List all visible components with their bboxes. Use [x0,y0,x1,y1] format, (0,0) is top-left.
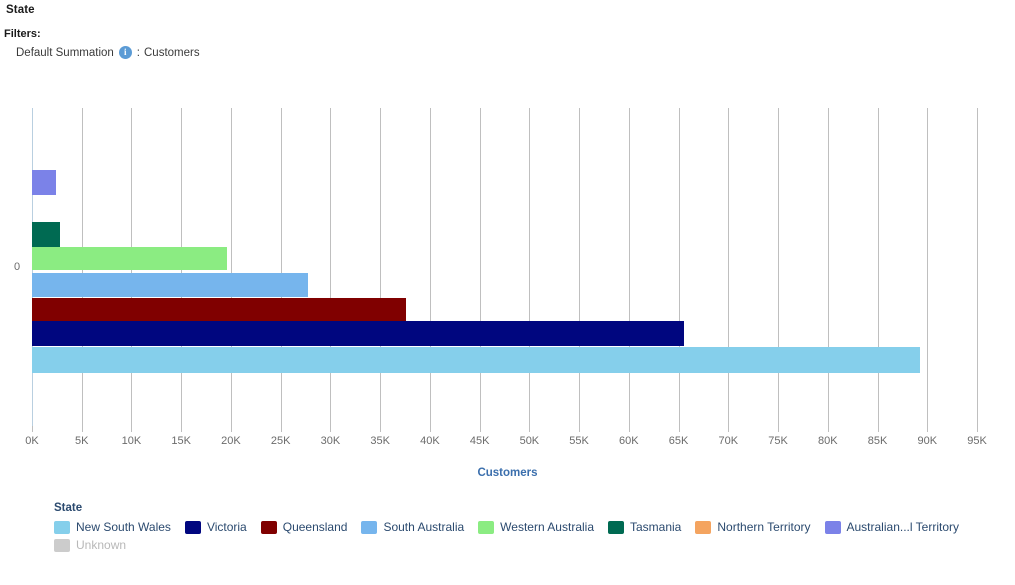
bar-tasmania[interactable] [32,222,60,247]
info-icon[interactable]: i [119,46,132,59]
x-tick-mark [629,426,630,432]
legend-item[interactable]: New South Wales [54,520,171,534]
legend-swatch-icon [478,521,494,534]
x-tick-label: 85K [868,435,888,447]
x-tick-mark [927,426,928,432]
x-tick-label: 25K [271,435,291,447]
gridline [579,108,580,426]
gridline [380,108,381,426]
bar-south-australia[interactable] [32,273,308,297]
bar-queensland[interactable] [32,298,406,321]
legend-title: State [54,502,1004,514]
legend-item[interactable]: Tasmania [608,520,681,534]
x-tick-label: 60K [619,435,639,447]
x-tick-mark [131,426,132,432]
legend-item-label: Western Australia [500,520,594,534]
gridline [281,108,282,426]
x-tick-mark [679,426,680,432]
legend-item[interactable]: Victoria [185,520,247,534]
gridline [878,108,879,426]
legend-swatch-icon [608,521,624,534]
x-tick-label: 20K [221,435,241,447]
x-tick-label: 15K [171,435,191,447]
x-tick-label: 75K [768,435,788,447]
gridline [927,108,928,426]
bar-victoria[interactable] [32,321,684,346]
legend-item-label: South Australia [383,520,464,534]
legend-item-label: Northern Territory [717,520,810,534]
x-tick-mark [579,426,580,432]
gridline [679,108,680,426]
x-tick-mark [281,426,282,432]
x-tick-label: 30K [321,435,341,447]
bar-western-australia[interactable] [32,247,227,270]
gridline [330,108,331,426]
gridline [231,108,232,426]
x-tick-mark [480,426,481,432]
gridline [629,108,630,426]
x-tick-label: 50K [520,435,540,447]
x-tick-label: 65K [669,435,689,447]
x-tick-mark [430,426,431,432]
x-tick-mark [828,426,829,432]
legend-item[interactable]: Queensland [261,520,348,534]
legend-swatch-icon [695,521,711,534]
x-tick-label: 55K [569,435,589,447]
plot-area [32,108,977,426]
legend-swatch-icon [54,539,70,552]
x-tick-label: 95K [967,435,987,447]
legend-item-label: Australian...l Territory [847,520,959,534]
filter-separator: : [137,47,140,59]
x-axis-title: Customers [0,467,1015,479]
gridline [430,108,431,426]
legend-item-label: Unknown [76,538,126,552]
x-tick-label: 90K [917,435,937,447]
gridline [529,108,530,426]
filters-label: Filters: [4,28,41,40]
x-tick-mark [778,426,779,432]
x-tick-mark [32,426,33,432]
x-tick-label: 0K [25,435,38,447]
x-tick-mark [82,426,83,432]
x-axis: 0K5K10K15K20K25K30K35K40K45K50K55K60K65K… [0,426,1015,452]
legend-item-label: Victoria [207,520,247,534]
x-tick-label: 10K [122,435,142,447]
legend-item-label: Tasmania [630,520,681,534]
filter-value: Customers [144,47,200,59]
gridline [480,108,481,426]
x-tick-mark [181,426,182,432]
gridline [728,108,729,426]
bar-australian-l-territory[interactable] [32,170,56,195]
x-tick-label: 45K [470,435,490,447]
x-tick-mark [330,426,331,432]
gridline [778,108,779,426]
x-tick-mark [380,426,381,432]
x-tick-label: 70K [719,435,739,447]
x-tick-mark [878,426,879,432]
legend-swatch-icon [54,521,70,534]
filter-name: Default Summation [16,47,114,59]
x-tick-label: 80K [818,435,838,447]
legend-item[interactable]: Northern Territory [695,520,810,534]
bar-new-south-wales[interactable] [32,347,920,373]
legend-item[interactable]: South Australia [361,520,464,534]
legend-item-label: Queensland [283,520,348,534]
legend-swatch-icon [361,521,377,534]
chart-page: State Filters: Default Summation i : Cus… [0,0,1015,585]
legend-swatch-icon [261,521,277,534]
x-tick-label: 35K [370,435,390,447]
x-tick-mark [529,426,530,432]
filter-row: Default Summation i : Customers [16,46,200,59]
legend-swatch-icon [825,521,841,534]
legend-item[interactable]: Unknown [54,538,126,552]
legend-item[interactable]: Australian...l Territory [825,520,959,534]
legend-item-label: New South Wales [76,520,171,534]
legend: State New South WalesVictoriaQueenslandS… [54,502,1004,556]
y-tick-label-0: 0 [14,261,20,273]
legend-swatch-icon [185,521,201,534]
legend-item[interactable]: Western Australia [478,520,594,534]
page-title: State [6,4,35,16]
x-tick-mark [977,426,978,432]
x-tick-mark [231,426,232,432]
x-tick-label: 40K [420,435,440,447]
gridline [977,108,978,426]
x-tick-mark [728,426,729,432]
gridline [828,108,829,426]
legend-items: New South WalesVictoriaQueenslandSouth A… [54,520,989,556]
x-tick-label: 5K [75,435,88,447]
